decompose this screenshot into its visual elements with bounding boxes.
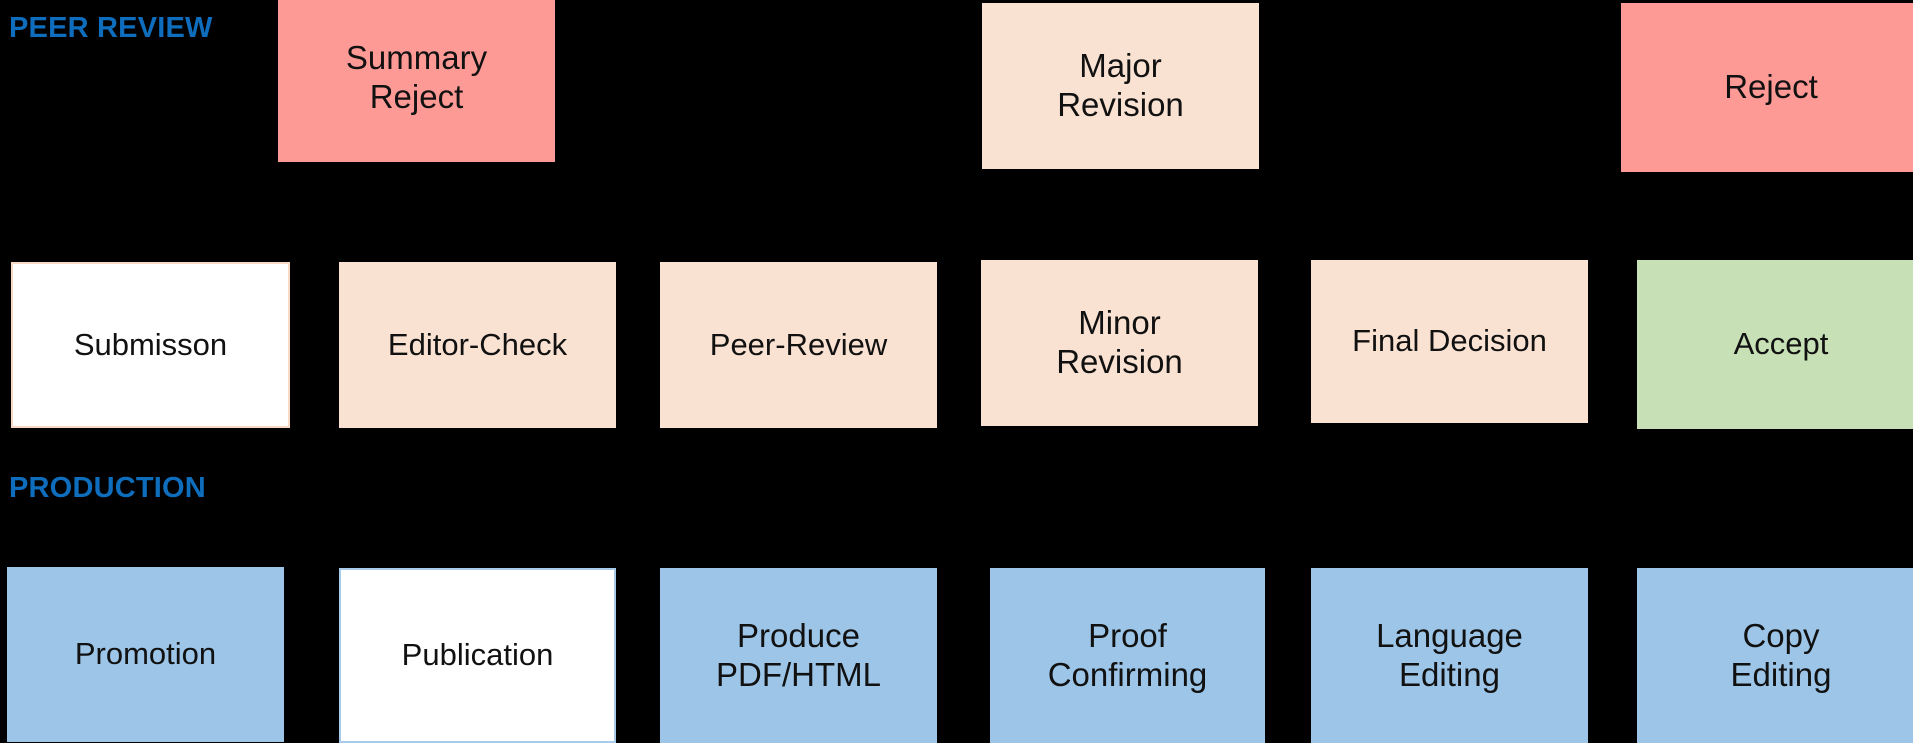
- node-promotion[interactable]: Promotion: [7, 567, 284, 742]
- node-proof-confirming[interactable]: Proof Confirming: [990, 568, 1265, 743]
- node-peer-review[interactable]: Peer-Review: [660, 262, 937, 428]
- node-major-revision[interactable]: Major Revision: [982, 3, 1259, 169]
- node-label: Peer-Review: [704, 327, 893, 364]
- node-label: Submisson: [68, 327, 233, 364]
- node-summary-reject[interactable]: Summary Reject: [278, 0, 555, 162]
- node-submission[interactable]: Submisson: [11, 262, 290, 428]
- node-label: Summary Reject: [340, 39, 493, 117]
- node-label: Reject: [1718, 68, 1824, 107]
- node-label: Copy Editing: [1725, 617, 1838, 695]
- node-label: Accept: [1728, 326, 1835, 363]
- node-label: Produce PDF/HTML: [710, 617, 887, 695]
- node-reject[interactable]: Reject: [1621, 3, 1913, 172]
- section-label-peer-review: PEER REVIEW: [9, 14, 213, 43]
- node-publication[interactable]: Publication: [339, 568, 616, 743]
- node-label: Minor Revision: [1050, 304, 1189, 382]
- node-label: Editor-Check: [382, 327, 573, 364]
- node-editor-check[interactable]: Editor-Check: [339, 262, 616, 428]
- node-copy-editing[interactable]: Copy Editing: [1637, 568, 1913, 743]
- node-label: Final Decision: [1346, 323, 1553, 360]
- workflow-diagram: PEER REVIEWPRODUCTIONSummary RejectMajor…: [0, 0, 1913, 736]
- node-produce-pdf-html[interactable]: Produce PDF/HTML: [660, 568, 937, 743]
- node-minor-revision[interactable]: Minor Revision: [981, 260, 1258, 426]
- node-language-editing[interactable]: Language Editing: [1311, 568, 1588, 743]
- node-label: Promotion: [69, 636, 222, 673]
- node-label: Publication: [396, 637, 560, 674]
- node-label: Language Editing: [1370, 617, 1529, 695]
- node-label: Major Revision: [1051, 47, 1190, 125]
- section-label-production: PRODUCTION: [9, 474, 206, 503]
- node-final-decision[interactable]: Final Decision: [1311, 260, 1588, 423]
- node-accept[interactable]: Accept: [1637, 260, 1913, 429]
- node-label: Proof Confirming: [1042, 617, 1214, 695]
